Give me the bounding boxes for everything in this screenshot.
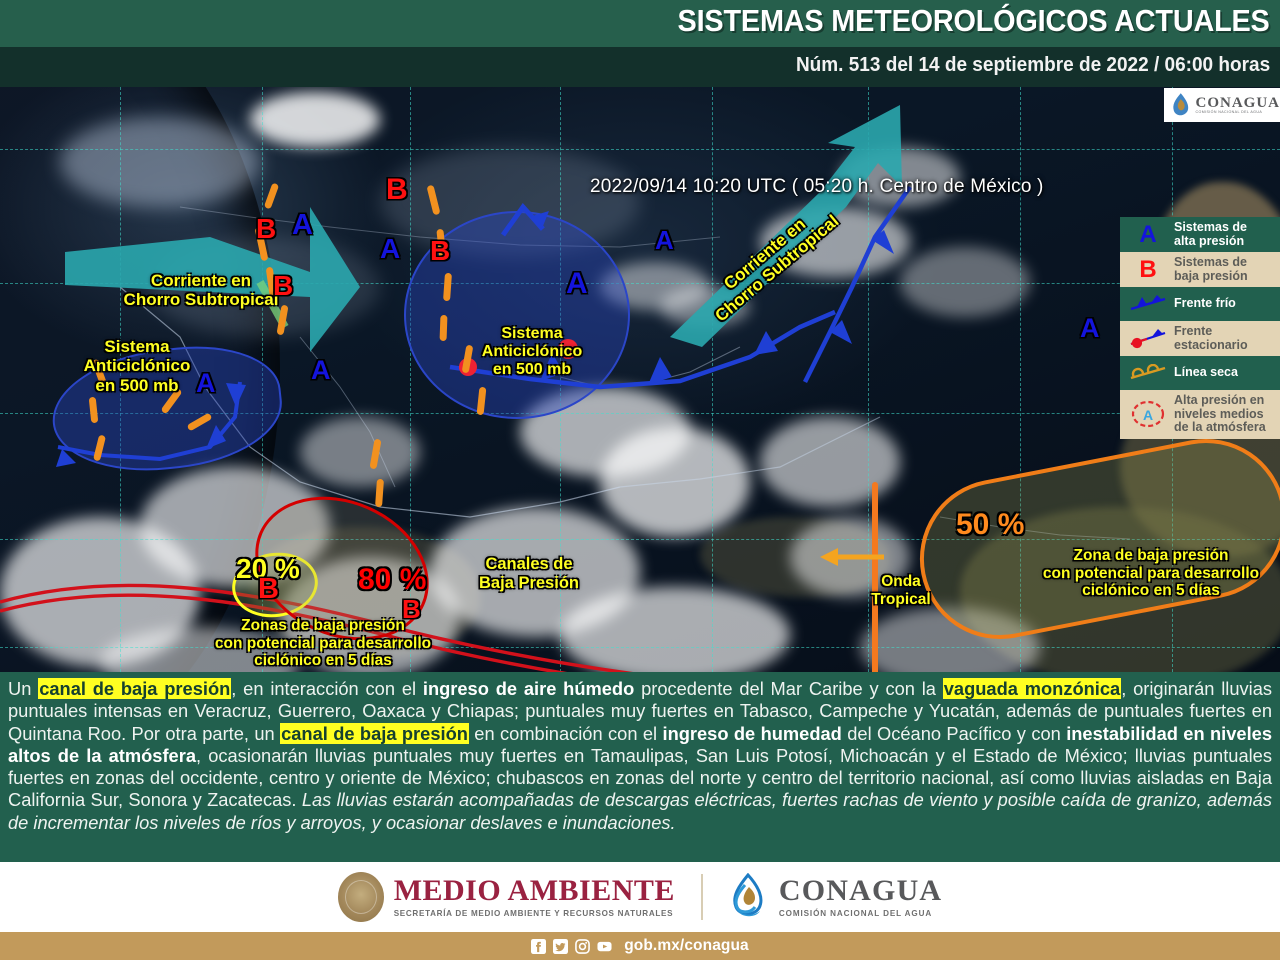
conagua-drop-icon [729,873,769,921]
mexico-seal-icon [338,872,384,922]
tropical-wave-arrow [818,542,888,572]
conagua-footer-logo: CONAGUA COMISIÓN NACIONAL DEL AGUA [729,873,942,921]
twitter-icon[interactable] [553,939,568,954]
high-pressure-marker: A [1080,315,1100,342]
legend-label-mid-level-high: Alta presión en niveles medios de la atm… [1174,394,1266,435]
legend-label-low-pressure: Sistemas de baja presión [1174,256,1248,283]
stationary-front-icon [1128,329,1168,349]
letter-A-icon: A [1128,223,1168,247]
t: del Océano Pacífico y con [842,723,1066,744]
legend-item-cold-front[interactable]: Frente frío [1120,287,1280,321]
legend-item-high-pressure[interactable]: A Sistemas de alta presión [1120,217,1280,252]
legend-label-dry-line: Línea seca [1174,366,1238,380]
high-pressure-marker: A [292,211,313,240]
youtube-icon[interactable] [597,939,612,954]
legend-label-high-pressure: Sistemas de alta presión [1174,221,1247,248]
forecast-text-block: Un canal de baja presión, en interacción… [0,672,1280,862]
legend-label-stationary-front: Frente estacionario [1174,325,1248,352]
conagua-map-logo-sub: COMISIÓN NACIONAL DEL AGUA [1196,111,1280,115]
medio-ambiente-subtitle: SECRETARÍA DE MEDIO AMBIENTE Y RECURSOS … [394,910,675,918]
cold-front-icon [1128,295,1168,313]
low-pressure-marker: B [430,237,450,265]
legend-item-dry-line[interactable]: Línea seca [1120,356,1280,390]
map-timestamp: 2022/09/14 10:20 UTC ( 05:20 h. Centro d… [590,176,1044,198]
satellite-map[interactable]: 20 % 80 % 50 % Corriente en Chorro Subtr… [0,87,1280,672]
high-pressure-marker: A [380,235,400,263]
page-title: SISTEMAS METEOROLÓGICOS ACTUALES [678,3,1270,39]
t: procedente del Mar Caribe y con la [634,678,943,699]
legend-label-cold-front: Frente frío [1174,297,1236,311]
t: , en interacción con el [231,678,423,699]
footer-logos: MEDIO AMBIENTE SECRETARÍA DE MEDIO AMBIE… [0,862,1280,932]
bold-ingreso-humedad: ingreso de humedad [662,723,841,744]
low-pressure-marker: B [386,175,408,205]
highlight-vaguada-monzonica: vaguada monzónica [943,678,1121,699]
dry-line-segment [440,315,448,341]
conagua-footer-title: CONAGUA [779,876,942,906]
map-legend: A Sistemas de alta presión B Sistemas de… [1120,217,1280,439]
label-sistema-anticiclonico-eua: Sistema Anticiclónico en 500 mb [452,325,612,380]
social-url[interactable]: gob.mx/conagua [624,937,749,955]
dry-line-icon [1128,364,1168,382]
label-onda-tropical: Onda Tropical [856,573,946,608]
t: Un [8,678,38,699]
footer-divider [701,874,703,920]
t: en combinación con el [469,723,663,744]
facebook-icon[interactable] [531,939,546,954]
forecast-paragraph: Un canal de baja presión, en interacción… [8,678,1272,834]
bold-ingreso-aire-humedo: ingreso de aire húmedo [423,678,634,699]
label-zonas-baja-presion-pacifico: Zonas de baja presión con potencial para… [208,617,438,670]
high-pressure-marker: A [566,269,588,299]
weather-bulletin-page: SISTEMAS METEOROLÓGICOS ACTUALES Núm. 51… [0,0,1280,960]
low-pressure-marker: B [402,596,421,622]
high-pressure-marker: A [196,370,216,397]
probability-50: 50 % [956,510,1024,540]
highlight-canal-baja-presion-2: canal de baja presión [280,723,469,744]
legend-item-mid-level-high[interactable]: A Alta presión en niveles medios de la a… [1120,390,1280,439]
svg-text:A: A [1143,407,1153,423]
label-canales-baja-presion: Canales de Baja Presión [444,555,614,593]
bulletin-number-date: Núm. 513 del 14 de septiembre de 2022 / … [796,54,1270,77]
medio-ambiente-logo: MEDIO AMBIENTE SECRETARÍA DE MEDIO AMBIE… [338,872,675,922]
conagua-map-logo-main: CONAGUA [1196,96,1280,111]
conagua-footer-subtitle: COMISIÓN NACIONAL DEL AGUA [779,910,942,918]
low-pressure-marker: B [258,575,279,604]
letter-B-icon: B [1128,258,1168,282]
probability-80: 80 % [358,565,426,595]
legend-item-stationary-front[interactable]: Frente estacionario [1120,321,1280,356]
low-pressure-marker: B [256,215,276,243]
instagram-icon[interactable] [575,939,590,954]
low-pressure-marker: B [273,272,293,300]
front-arrow-north [495,195,555,255]
label-zona-baja-presion-atlantico: Zona de baja presión con potencial para … [1026,547,1276,600]
medio-ambiente-title: MEDIO AMBIENTE [394,876,675,906]
high-pressure-marker: A [311,357,331,384]
high-pressure-marker: A [655,227,674,253]
mid-level-high-icon: A [1128,399,1168,429]
social-bar: gob.mx/conagua [0,932,1280,960]
legend-item-low-pressure[interactable]: B Sistemas de baja presión [1120,252,1280,287]
water-drop-icon [1170,92,1192,118]
conagua-map-logo: CONAGUA COMISIÓN NACIONAL DEL AGUA [1164,88,1280,122]
highlight-canal-baja-presion-1: canal de baja presión [38,678,231,699]
